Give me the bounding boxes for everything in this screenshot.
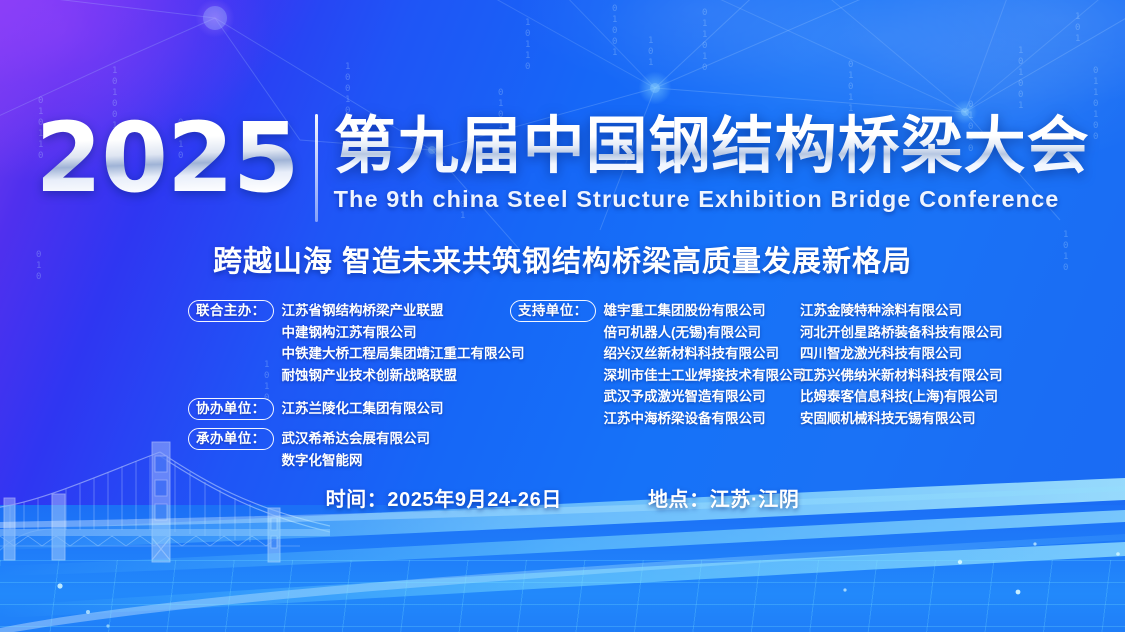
organization-name: 江苏兴佛纳米新材料科技有限公司 bbox=[800, 365, 1003, 387]
undertaker-label: 承办单位： bbox=[188, 428, 274, 450]
co-organizer-label: 协办单位： bbox=[188, 398, 274, 420]
organization-name: 江苏中海桥梁设备有限公司 bbox=[604, 408, 807, 430]
title-row: 2025 第九届中国钢结构桥梁大会 The 9th china Steel St… bbox=[0, 112, 1125, 222]
organization-name: 武汉希希达会展有限公司 bbox=[282, 428, 431, 450]
organization-name: 绍兴汉丝新材料科技有限公司 bbox=[604, 343, 807, 365]
conference-banner: 0 1 0 1 1 01 0 1 0 0 1 00 1 1 01 0 0 1 0… bbox=[0, 0, 1125, 632]
organization-name: 深圳市佳士工业焊接技术有限公司 bbox=[604, 365, 807, 387]
organization-name: 比姆泰客信息科技(上海)有限公司 bbox=[800, 386, 1003, 408]
organization-name: 四川智龙激光科技有限公司 bbox=[800, 343, 1003, 365]
credits-section: 联合主办： 江苏省钢结构桥梁产业联盟中建钢构江苏有限公司中铁建大桥工程局集团靖江… bbox=[0, 300, 1125, 460]
undertaker-group: 承办单位： 武汉希希达会展有限公司数字化智能网 bbox=[188, 428, 430, 471]
undertaker-org-list: 武汉希希达会展有限公司数字化智能网 bbox=[282, 428, 431, 471]
organization-name: 武汉予成激光智造有限公司 bbox=[604, 386, 807, 408]
supporters-org-list-right: 江苏金陵特种涂料有限公司河北开创星路桥装备科技有限公司四川智龙激光科技有限公司江… bbox=[800, 300, 1003, 429]
supporters-group: 支持单位： 雄宇重工集团股份有限公司倍可机器人(无锡)有限公司绍兴汉丝新材料科技… bbox=[510, 300, 806, 429]
organization-name: 安固顺机械科技无锡有限公司 bbox=[800, 408, 1003, 430]
supporters-org-list-left: 雄宇重工集团股份有限公司倍可机器人(无锡)有限公司绍兴汉丝新材料科技有限公司深圳… bbox=[604, 300, 807, 429]
conference-title-en: The 9th china Steel Structure Exhibition… bbox=[334, 186, 1090, 213]
year-2025: 2025 bbox=[35, 112, 298, 204]
organization-name: 数字化智能网 bbox=[282, 450, 431, 472]
organization-name: 雄宇重工集团股份有限公司 bbox=[604, 300, 807, 322]
event-location: 地点：江苏·江阴 bbox=[648, 483, 799, 512]
organization-name: 中建钢构江苏有限公司 bbox=[282, 322, 525, 344]
co-organizer-org-list: 江苏兰陵化工集团有限公司 bbox=[282, 398, 444, 420]
banner-content: 2025 第九届中国钢结构桥梁大会 The 9th china Steel St… bbox=[0, 0, 1125, 632]
title-block: 第九届中国钢结构桥梁大会 The 9th china Steel Structu… bbox=[334, 112, 1090, 213]
supporters-right-group: 江苏金陵特种涂料有限公司河北开创星路桥装备科技有限公司四川智龙激光科技有限公司江… bbox=[800, 300, 1003, 429]
organization-name: 中铁建大桥工程局集团靖江重工有限公司 bbox=[282, 343, 525, 365]
co-organizer-group: 协办单位： 江苏兰陵化工集团有限公司 bbox=[188, 398, 444, 420]
footer-info: 时间：2025年9月24-26日 地点：江苏·江阴 bbox=[0, 483, 1125, 512]
organization-name: 耐蚀钢产业技术创新战略联盟 bbox=[282, 365, 525, 387]
co-host-group: 联合主办： 江苏省钢结构桥梁产业联盟中建钢构江苏有限公司中铁建大桥工程局集团靖江… bbox=[188, 300, 525, 386]
conference-slogan: 跨越山海 智造未来共筑钢结构桥梁高质量发展新格局 bbox=[0, 238, 1125, 280]
co-host-org-list: 江苏省钢结构桥梁产业联盟中建钢构江苏有限公司中铁建大桥工程局集团靖江重工有限公司… bbox=[282, 300, 525, 386]
title-divider bbox=[315, 114, 318, 222]
organization-name: 倍可机器人(无锡)有限公司 bbox=[604, 322, 807, 344]
co-host-label: 联合主办： bbox=[188, 300, 274, 322]
organization-name: 江苏金陵特种涂料有限公司 bbox=[800, 300, 1003, 322]
organization-name: 江苏省钢结构桥梁产业联盟 bbox=[282, 300, 525, 322]
conference-title-cn: 第九届中国钢结构桥梁大会 bbox=[334, 112, 1090, 182]
supporters-label: 支持单位： bbox=[510, 300, 596, 322]
event-date: 时间：2025年9月24-26日 bbox=[326, 483, 562, 512]
organization-name: 河北开创星路桥装备科技有限公司 bbox=[800, 322, 1003, 344]
organization-name: 江苏兰陵化工集团有限公司 bbox=[282, 398, 444, 420]
